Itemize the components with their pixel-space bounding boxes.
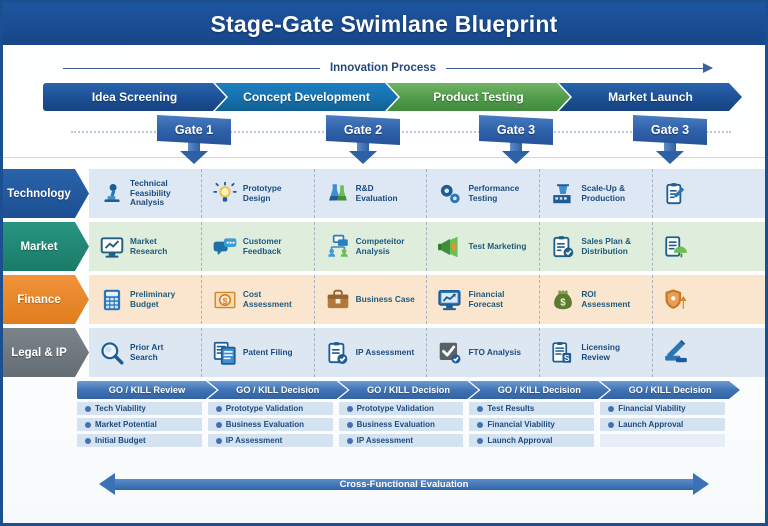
gate-arrow-down-icon: [349, 151, 377, 164]
briefcase-icon: [325, 287, 351, 313]
gate-label: Gate 1: [157, 115, 231, 145]
gokill-column-2: Prototype ValidationBusiness EvaluationI…: [208, 402, 339, 450]
innovation-process-label: Innovation Process: [320, 62, 446, 74]
gokill-criterion-label: Financial Viability: [487, 420, 554, 429]
stage-chevron-3[interactable]: Product Testing: [387, 83, 570, 111]
swimlane-label[interactable]: Market: [3, 222, 75, 271]
arrow-line-right: [446, 68, 703, 69]
activity-label: TechnicalFeasibility Analysis: [130, 179, 201, 208]
gokill-criterion[interactable]: Prototype Validation: [339, 402, 464, 415]
cross-functional-label: Cross-Functional Evaluation: [334, 479, 475, 490]
gate-marker-3[interactable]: Gate 3: [479, 113, 553, 165]
activity-label: Business Case: [356, 295, 415, 305]
dollar-coin-icon: $: [212, 287, 238, 313]
gokill-criterion-label: IP Assessment: [226, 436, 282, 445]
activity-cell[interactable]: [653, 169, 765, 218]
activity-cell[interactable]: TechnicalFeasibility Analysis: [89, 169, 202, 218]
arrow-head-right-icon: [693, 473, 709, 495]
factory-icon: [550, 181, 576, 207]
arrow-line-left: [63, 68, 320, 69]
gokill-criterion-label: Launch Approval: [487, 436, 552, 445]
activity-label: CompeteitorAnalysis: [356, 237, 405, 257]
activity-label: ROIAssessment: [581, 290, 630, 310]
bullet-icon: [477, 438, 483, 444]
gokill-criterion-label: Market Potential: [95, 420, 157, 429]
swimlane-label-arrow-icon: [75, 328, 89, 377]
stage-label: Market Launch: [608, 90, 693, 104]
bullet-icon: [347, 422, 353, 428]
activity-label: Prior ArtSearch: [130, 343, 163, 363]
bullet-icon: [477, 406, 483, 412]
calculator-icon: [99, 287, 125, 313]
clipboard-pen-icon: [663, 181, 689, 207]
gokill-criterion-empty: [600, 434, 725, 447]
gate-label: Gate 2: [326, 115, 400, 145]
bullet-icon: [477, 422, 483, 428]
activity-cell[interactable]: [653, 328, 765, 377]
gokill-criterion[interactable]: Business Evaluation: [208, 418, 333, 431]
stage-chevron-2[interactable]: Concept Development: [215, 83, 398, 111]
clipboard-check-icon: [550, 234, 576, 260]
activity-label: Scale-Up &Production: [581, 184, 625, 204]
gokill-criterion[interactable]: IP Assessment: [339, 434, 464, 447]
gokill-criterion[interactable]: Prototype Validation: [208, 402, 333, 415]
gate-label: Gate 3: [633, 115, 707, 145]
activity-cell[interactable]: Test Marketing: [427, 222, 540, 271]
shield-arrow-icon: [663, 287, 689, 313]
gate-row: Gate 1Gate 2Gate 3Gate 3: [3, 113, 765, 165]
activity-label: Patent Filing: [243, 348, 293, 358]
megaphone-icon: [437, 234, 463, 260]
gokill-criterion-label: Business Evaluation: [226, 420, 304, 429]
activity-label: Test Marketing: [468, 242, 526, 252]
page-title: Stage-Gate Swimlane Blueprint: [210, 11, 557, 38]
bullet-icon: [608, 406, 614, 412]
swimlane-market: MarketMarketResearchCustomerFeedbackComp…: [3, 222, 765, 271]
swimlane-cells: PreliminaryBudget$CostAssessmentBusiness…: [89, 275, 765, 324]
activity-label: LicensingReview: [581, 343, 620, 363]
title-bar: Stage-Gate Swimlane Blueprint: [3, 3, 765, 45]
activity-cell[interactable]: $CostAssessment: [202, 275, 315, 324]
activity-label: MarketResearch: [130, 237, 167, 257]
activity-cell[interactable]: Business Case: [315, 275, 428, 324]
bullet-icon: [85, 406, 91, 412]
swimlane-label-arrow-icon: [75, 222, 89, 271]
activity-label: PrototypeDesign: [243, 184, 282, 204]
gokill-column-5: Financial ViabilityLaunch Approval: [600, 402, 731, 450]
swimlane-label-arrow-icon: [75, 169, 89, 218]
activity-cell[interactable]: [653, 222, 765, 271]
stage-label: Concept Development: [243, 90, 370, 104]
gokill-header-5[interactable]: GO / KILL Decision: [600, 381, 740, 399]
gate-arrow-down-icon: [502, 151, 530, 164]
stage-chevron-row: Idea ScreeningConcept DevelopmentProduct…: [43, 83, 731, 111]
microscope-icon: [99, 181, 125, 207]
gate-label: Gate 3: [479, 115, 553, 145]
money-bag-icon: $: [550, 287, 576, 313]
chat-bubbles-icon: [212, 234, 238, 260]
swimlane-container: TechnologyTechnicalFeasibility AnalysisP…: [3, 169, 765, 381]
gokill-header-row: GO / KILL ReviewGO / KILL DecisionGO / K…: [77, 381, 731, 399]
monitor-growth-icon: [437, 287, 463, 313]
gokill-header-label: GO / KILL Decision: [629, 385, 712, 395]
gokill-criterion[interactable]: Launch Approval: [600, 418, 725, 431]
activity-cell[interactable]: IP Assessment: [315, 328, 428, 377]
gokill-column-4: Test ResultsFinancial ViabilityLaunch Ap…: [469, 402, 600, 450]
activity-label: CostAssessment: [243, 290, 292, 310]
arrow-head-icon: [703, 63, 713, 73]
gokill-criterion[interactable]: Test Results: [469, 402, 594, 415]
swimlane-label[interactable]: Legal & IP: [3, 328, 75, 377]
stage-label: Product Testing: [433, 90, 523, 104]
swimlane-cells: TechnicalFeasibility AnalysisPrototypeDe…: [89, 169, 765, 218]
gokill-header-2[interactable]: GO / KILL Decision: [208, 381, 348, 399]
swimlane-label[interactable]: Technology: [3, 169, 75, 218]
gokill-criterion-label: Business Evaluation: [357, 420, 435, 429]
activity-cell[interactable]: R&DEvaluation: [315, 169, 428, 218]
gate-marker-2[interactable]: Gate 2: [326, 113, 400, 165]
bullet-icon: [85, 438, 91, 444]
activity-cell[interactable]: [653, 275, 765, 324]
gokill-header-label: GO / KILL Decision: [498, 385, 581, 395]
bullet-icon: [216, 406, 222, 412]
svg-text:S: S: [564, 353, 570, 363]
flasks-icon: [325, 181, 351, 207]
gokill-header-4[interactable]: GO / KILL Decision: [469, 381, 609, 399]
gokill-criterion-label: Launch Approval: [618, 420, 683, 429]
swimlane-technology: TechnologyTechnicalFeasibility AnalysisP…: [3, 169, 765, 218]
bullet-icon: [216, 438, 222, 444]
activity-cell[interactable]: Financial Forecast: [427, 275, 540, 324]
activity-label: R&DEvaluation: [356, 184, 398, 204]
gokill-criterion-label: IP Assessment: [357, 436, 413, 445]
license-doc-icon: S: [550, 340, 576, 366]
gokill-criterion-label: Financial Viability: [618, 404, 685, 413]
gokill-column-3: Prototype ValidationBusiness EvaluationI…: [339, 402, 470, 450]
activity-label: PreliminaryBudget: [130, 290, 175, 310]
gokill-body-row: Tech ViabilityMarket PotentialInitial Bu…: [77, 402, 731, 450]
document-umbrella-icon: [663, 234, 689, 260]
activity-cell[interactable]: PreliminaryBudget: [89, 275, 202, 324]
gokill-header-label: GO / KILL Decision: [367, 385, 450, 395]
swimlane-label-arrow-icon: [75, 275, 89, 324]
activity-label: Sales Plan &Distribution: [581, 237, 631, 257]
swimlane-label[interactable]: Finance: [3, 275, 75, 324]
activity-cell[interactable]: Sales Plan &Distribution: [540, 222, 653, 271]
gokill-criterion[interactable]: Tech Viability: [77, 402, 202, 415]
gokill-criterion-label: Initial Budget: [95, 436, 146, 445]
bullet-icon: [608, 422, 614, 428]
activity-label: Financial Forecast: [468, 290, 539, 310]
activity-cell[interactable]: MarketResearch: [89, 222, 202, 271]
bullet-icon: [347, 438, 353, 444]
activity-cell[interactable]: SLicensingReview: [540, 328, 653, 377]
gokill-criterion-label: Tech Viability: [95, 404, 146, 413]
activity-cell[interactable]: FTO Analysis: [427, 328, 540, 377]
activity-cell[interactable]: CustomerFeedback: [202, 222, 315, 271]
stage-chevron-4[interactable]: Market Launch: [559, 83, 742, 111]
gokill-section: GO / KILL ReviewGO / KILL DecisionGO / K…: [77, 381, 731, 450]
bullet-icon: [216, 422, 222, 428]
org-chart-icon: [325, 234, 351, 260]
cross-functional-bar: Cross-Functional Evaluation: [115, 479, 693, 490]
clipboard-verified-icon: [325, 340, 351, 366]
gokill-criterion[interactable]: Launch Approval: [469, 434, 594, 447]
gokill-criterion[interactable]: Initial Budget: [77, 434, 202, 447]
svg-text:$: $: [222, 295, 227, 305]
monitor-chart-icon: [99, 234, 125, 260]
swimlane-finance: FinancePreliminaryBudget$CostAssessmentB…: [3, 275, 765, 324]
activity-cell[interactable]: Prior ArtSearch: [89, 328, 202, 377]
activity-cell[interactable]: $ROIAssessment: [540, 275, 653, 324]
activity-cell[interactable]: CompeteitorAnalysis: [315, 222, 428, 271]
gokill-header-1[interactable]: GO / KILL Review: [77, 381, 217, 399]
lightbulb-icon: [212, 181, 238, 207]
gokill-criterion-label: Prototype Validation: [226, 404, 303, 413]
innovation-process-arrow: Innovation Process: [63, 57, 713, 79]
checkbox-check-icon: [437, 340, 463, 366]
gokill-column-1: Tech ViabilityMarket PotentialInitial Bu…: [77, 402, 208, 450]
gokill-header-label: GO / KILL Decision: [236, 385, 319, 395]
gate-arrow-down-icon: [656, 151, 684, 164]
swimlane-cells: Prior ArtSearchPatent FilingIP Assessmen…: [89, 328, 765, 377]
activity-cell[interactable]: Patent Filing: [202, 328, 315, 377]
documents-icon: [212, 340, 238, 366]
signature-pen-icon: [663, 340, 689, 366]
activity-label: PerformanceTesting: [468, 184, 519, 204]
gokill-header-3[interactable]: GO / KILL Decision: [339, 381, 479, 399]
activity-cell[interactable]: PerformanceTesting: [427, 169, 540, 218]
activity-label: FTO Analysis: [468, 348, 521, 358]
gate-marker-4[interactable]: Gate 3: [633, 113, 707, 165]
gokill-criterion[interactable]: Financial Viability: [469, 418, 594, 431]
gokill-header-label: GO / KILL Review: [109, 385, 185, 395]
gokill-criterion[interactable]: IP Assessment: [208, 434, 333, 447]
magnifier-icon: [99, 340, 125, 366]
bullet-icon: [85, 422, 91, 428]
activity-label: IP Assessment: [356, 348, 415, 358]
stage-label: Idea Screening: [92, 90, 177, 104]
swimlane-legal-ip: Legal & IPPrior ArtSearchPatent FilingIP…: [3, 328, 765, 377]
cross-functional-arrow: Cross-Functional Evaluation: [99, 473, 709, 495]
gate-marker-1[interactable]: Gate 1: [157, 113, 231, 165]
gokill-criterion-label: Test Results: [487, 404, 534, 413]
activity-cell[interactable]: Scale-Up &Production: [540, 169, 653, 218]
gokill-criterion[interactable]: Business Evaluation: [339, 418, 464, 431]
gate-arrow-down-icon: [180, 151, 208, 164]
gokill-criterion[interactable]: Financial Viability: [600, 402, 725, 415]
bullet-icon: [347, 406, 353, 412]
gokill-criterion-label: Prototype Validation: [357, 404, 434, 413]
blueprint-board: Stage-Gate Swimlane Blueprint Innovation…: [0, 0, 768, 526]
stage-chevron-1[interactable]: Idea Screening: [43, 83, 226, 111]
gokill-criterion[interactable]: Market Potential: [77, 418, 202, 431]
gears-icon: [437, 181, 463, 207]
activity-cell[interactable]: PrototypeDesign: [202, 169, 315, 218]
arrow-head-left-icon: [99, 473, 115, 495]
svg-text:$: $: [561, 297, 567, 308]
activity-label: CustomerFeedback: [243, 237, 282, 257]
swimlane-cells: MarketResearchCustomerFeedbackCompeteito…: [89, 222, 765, 271]
